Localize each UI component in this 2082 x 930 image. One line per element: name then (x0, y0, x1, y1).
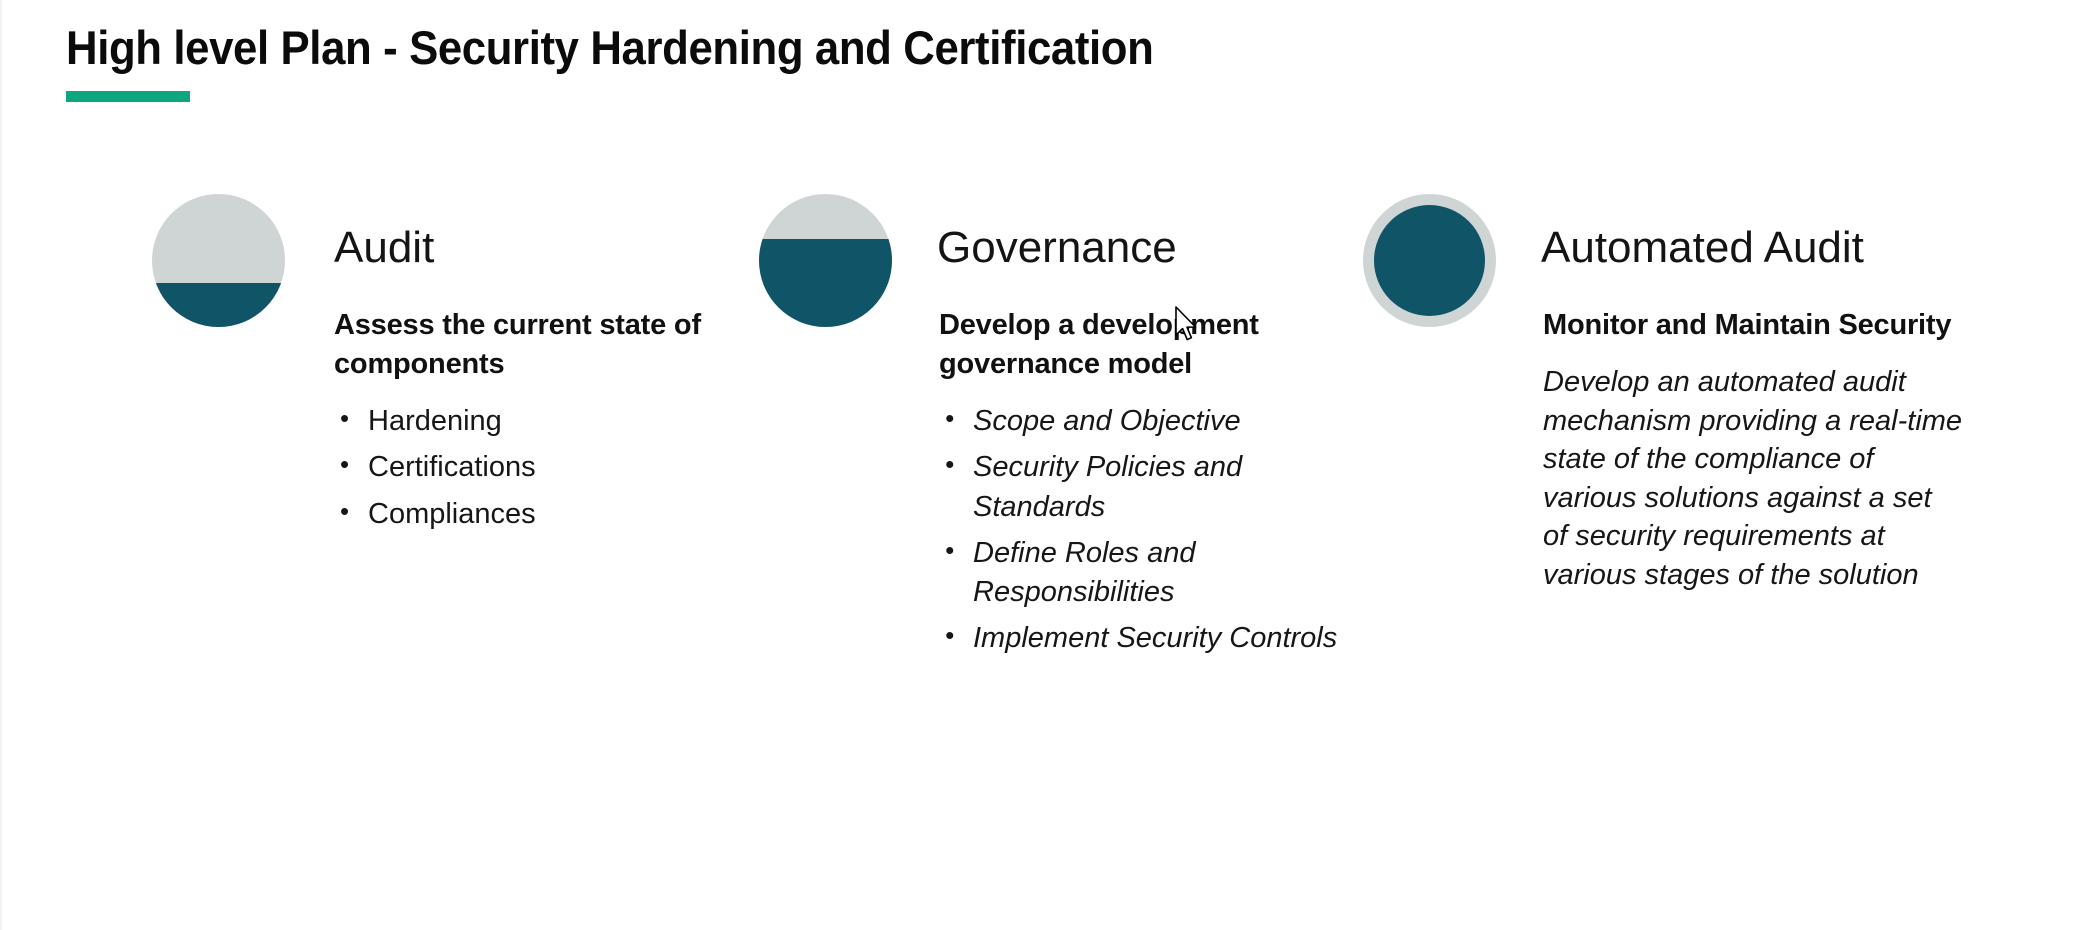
list-item: Certifications (334, 448, 764, 487)
column-audit: Audit Assess the current state of compon… (152, 180, 772, 312)
column-automated-audit: Automated Audit Monitor and Maintain Sec… (1363, 180, 1983, 312)
bullet-list-governance: Scope and Objective Security Policies an… (939, 402, 1349, 658)
gauge-icon-automated-audit (1363, 194, 1496, 327)
slide-canvas: High level Plan - Security Hardening and… (0, 0, 2082, 930)
gauge-icon-audit (152, 194, 285, 327)
column-governance: Governance Develop a development governa… (759, 180, 1359, 312)
column-header-governance: Governance (759, 180, 1359, 312)
title-accent-rule (66, 91, 190, 102)
column-header-audit: Audit (152, 180, 772, 312)
gauge-fill (1374, 205, 1485, 316)
paragraph-automated-audit: Develop an automated audit mechanism pro… (1543, 363, 1963, 594)
page-title: High level Plan - Security Hardening and… (66, 22, 1554, 75)
subhead-governance: Develop a development governance model (939, 306, 1349, 384)
stage-name-automated-audit: Automated Audit (1541, 226, 1864, 270)
column-body-audit: Assess the current state of components H… (334, 306, 764, 541)
list-item: Security Policies and Standards (939, 448, 1349, 526)
columns-container: Audit Assess the current state of compon… (2, 180, 2082, 820)
gauge-fill (152, 283, 285, 327)
list-item: Define Roles and Responsibilities (939, 534, 1349, 612)
title-block: High level Plan - Security Hardening and… (66, 22, 1666, 102)
stage-name-governance: Governance (937, 226, 1177, 270)
column-body-automated-audit: Monitor and Maintain Security Develop an… (1543, 306, 1963, 595)
column-header-automated-audit: Automated Audit (1363, 180, 1983, 312)
gauge-fill (759, 239, 892, 327)
subhead-automated-audit: Monitor and Maintain Security (1543, 306, 1963, 345)
stage-name-audit: Audit (334, 226, 434, 270)
column-body-governance: Develop a development governance model S… (939, 306, 1349, 665)
list-item: Scope and Objective (939, 402, 1349, 441)
list-item: Implement Security Controls (939, 619, 1349, 658)
bullet-list-audit: Hardening Certifications Compliances (334, 402, 764, 533)
gauge-icon-governance (759, 194, 892, 327)
subhead-audit: Assess the current state of components (334, 306, 764, 384)
list-item: Compliances (334, 495, 764, 534)
list-item: Hardening (334, 402, 764, 441)
